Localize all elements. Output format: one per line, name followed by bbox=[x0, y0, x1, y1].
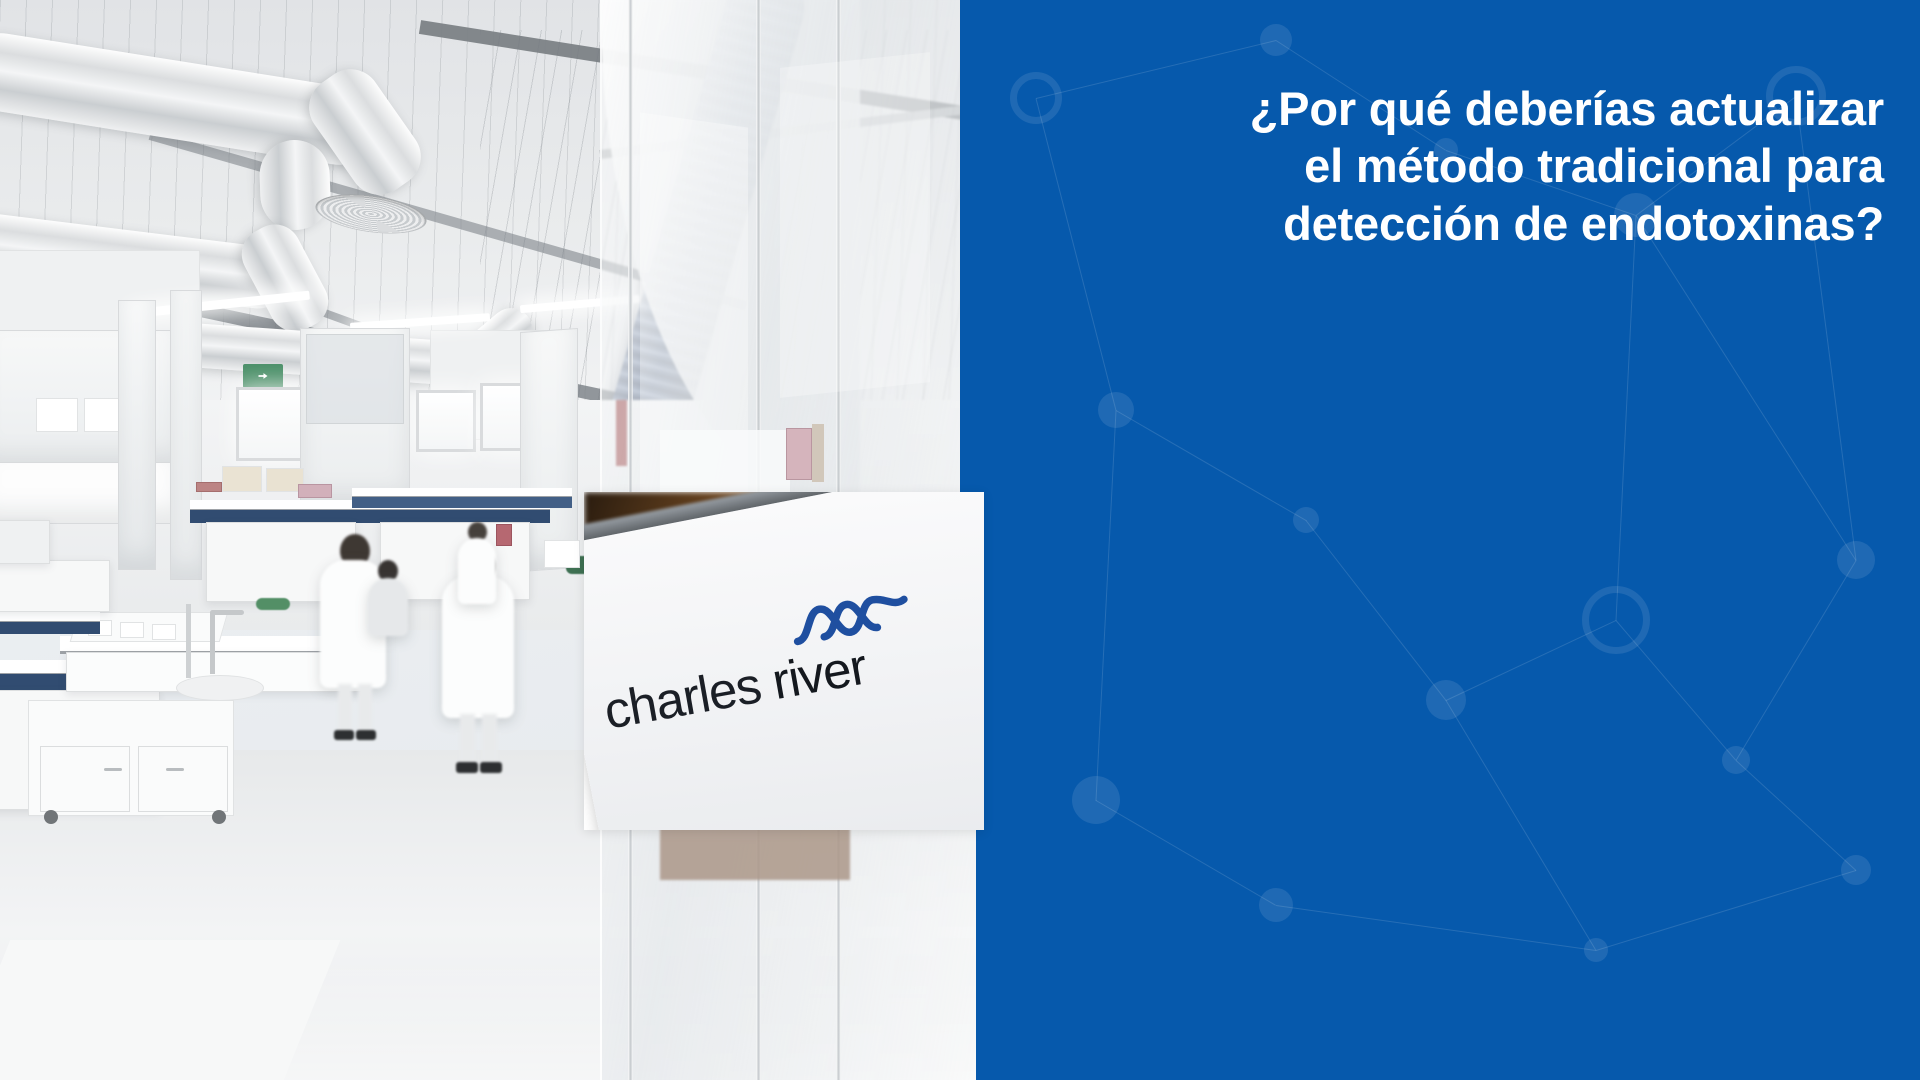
network-link bbox=[1636, 215, 1857, 561]
person-shoe bbox=[356, 730, 376, 740]
network-link bbox=[1276, 905, 1596, 951]
tap-stem bbox=[210, 612, 215, 674]
socket-plate bbox=[120, 622, 144, 638]
network-node bbox=[1841, 855, 1871, 885]
reagent-bottle bbox=[496, 524, 512, 546]
caster-wheel bbox=[44, 810, 58, 824]
network-link bbox=[1736, 760, 1857, 871]
network-node bbox=[1072, 776, 1120, 824]
network-link bbox=[1616, 215, 1637, 620]
brand-wordmark: charles river bbox=[600, 618, 975, 740]
glass-panel-insert bbox=[660, 430, 790, 492]
sample-tray bbox=[298, 484, 332, 498]
window bbox=[416, 390, 476, 452]
headline-line-3: detección de endotoxinas? bbox=[1283, 197, 1884, 250]
person-torso bbox=[368, 578, 408, 636]
brand-word-charles: charles bbox=[600, 656, 765, 739]
person-shoe bbox=[480, 762, 502, 773]
bench-edge bbox=[352, 497, 572, 508]
headline-line-2: el método tradicional para bbox=[1304, 139, 1884, 192]
sample-tray bbox=[196, 482, 222, 492]
exit-sign-icon bbox=[243, 364, 283, 388]
network-node bbox=[1722, 746, 1750, 774]
network-link bbox=[1736, 560, 1857, 761]
lab-equipment bbox=[222, 466, 262, 492]
person-leg bbox=[460, 714, 475, 766]
bench-edge bbox=[0, 622, 100, 634]
network-node bbox=[1293, 507, 1319, 533]
person-leg bbox=[358, 684, 372, 734]
sink-basin bbox=[176, 675, 264, 701]
cabinet-handle[interactable] bbox=[104, 768, 122, 771]
brand-word-river: river bbox=[768, 638, 871, 710]
network-node bbox=[1837, 541, 1875, 579]
network-ring bbox=[1582, 586, 1650, 654]
network-link bbox=[1096, 800, 1276, 906]
glass-reflection bbox=[780, 52, 930, 398]
air-duct-drop bbox=[258, 139, 331, 231]
green-handle bbox=[256, 598, 290, 610]
hood-column bbox=[170, 290, 202, 580]
network-link bbox=[1446, 700, 1597, 951]
blue-content-panel: ¿Por qué deberías actualizar el método t… bbox=[976, 0, 1920, 1080]
floor-highlight bbox=[0, 940, 340, 1080]
charles-river-logo-card: charles river bbox=[584, 492, 984, 830]
cabinet-handle[interactable] bbox=[166, 768, 184, 771]
hood-column bbox=[118, 300, 156, 570]
lab-coat bbox=[458, 538, 496, 604]
posted-notice bbox=[36, 398, 78, 432]
tap-spout bbox=[210, 610, 244, 615]
network-link bbox=[1306, 520, 1447, 701]
network-link bbox=[1596, 870, 1856, 951]
banner-canvas: ¿Por qué deberías actualizar el método t… bbox=[0, 0, 1920, 1080]
cabinet-door[interactable] bbox=[40, 746, 130, 812]
hood-sash bbox=[306, 334, 404, 424]
document bbox=[544, 540, 580, 568]
network-node bbox=[1098, 392, 1134, 428]
poster-edge bbox=[812, 424, 824, 482]
person-leg bbox=[338, 684, 352, 734]
network-node bbox=[1259, 888, 1293, 922]
poster-card bbox=[786, 428, 812, 480]
tap-stem bbox=[186, 604, 191, 678]
analyzer-equipment bbox=[0, 560, 110, 612]
caster-wheel bbox=[212, 810, 226, 824]
analyzer-equipment bbox=[0, 520, 50, 564]
cabinet-door[interactable] bbox=[138, 746, 228, 812]
socket-plate bbox=[152, 624, 176, 640]
network-node bbox=[1426, 680, 1466, 720]
panel-left-edge bbox=[960, 0, 976, 492]
network-node bbox=[1260, 24, 1292, 56]
brand-lockup: charles river bbox=[584, 492, 984, 830]
headline-line-1: ¿Por qué deberías actualizar bbox=[1250, 82, 1884, 135]
page-title: ¿Por qué deberías actualizar el método t… bbox=[1004, 80, 1884, 252]
network-link bbox=[1096, 410, 1117, 800]
network-link bbox=[1116, 410, 1306, 521]
person-shoe bbox=[456, 762, 478, 773]
network-node bbox=[1584, 938, 1608, 962]
person-shoe bbox=[334, 730, 354, 740]
person-leg bbox=[482, 714, 497, 766]
